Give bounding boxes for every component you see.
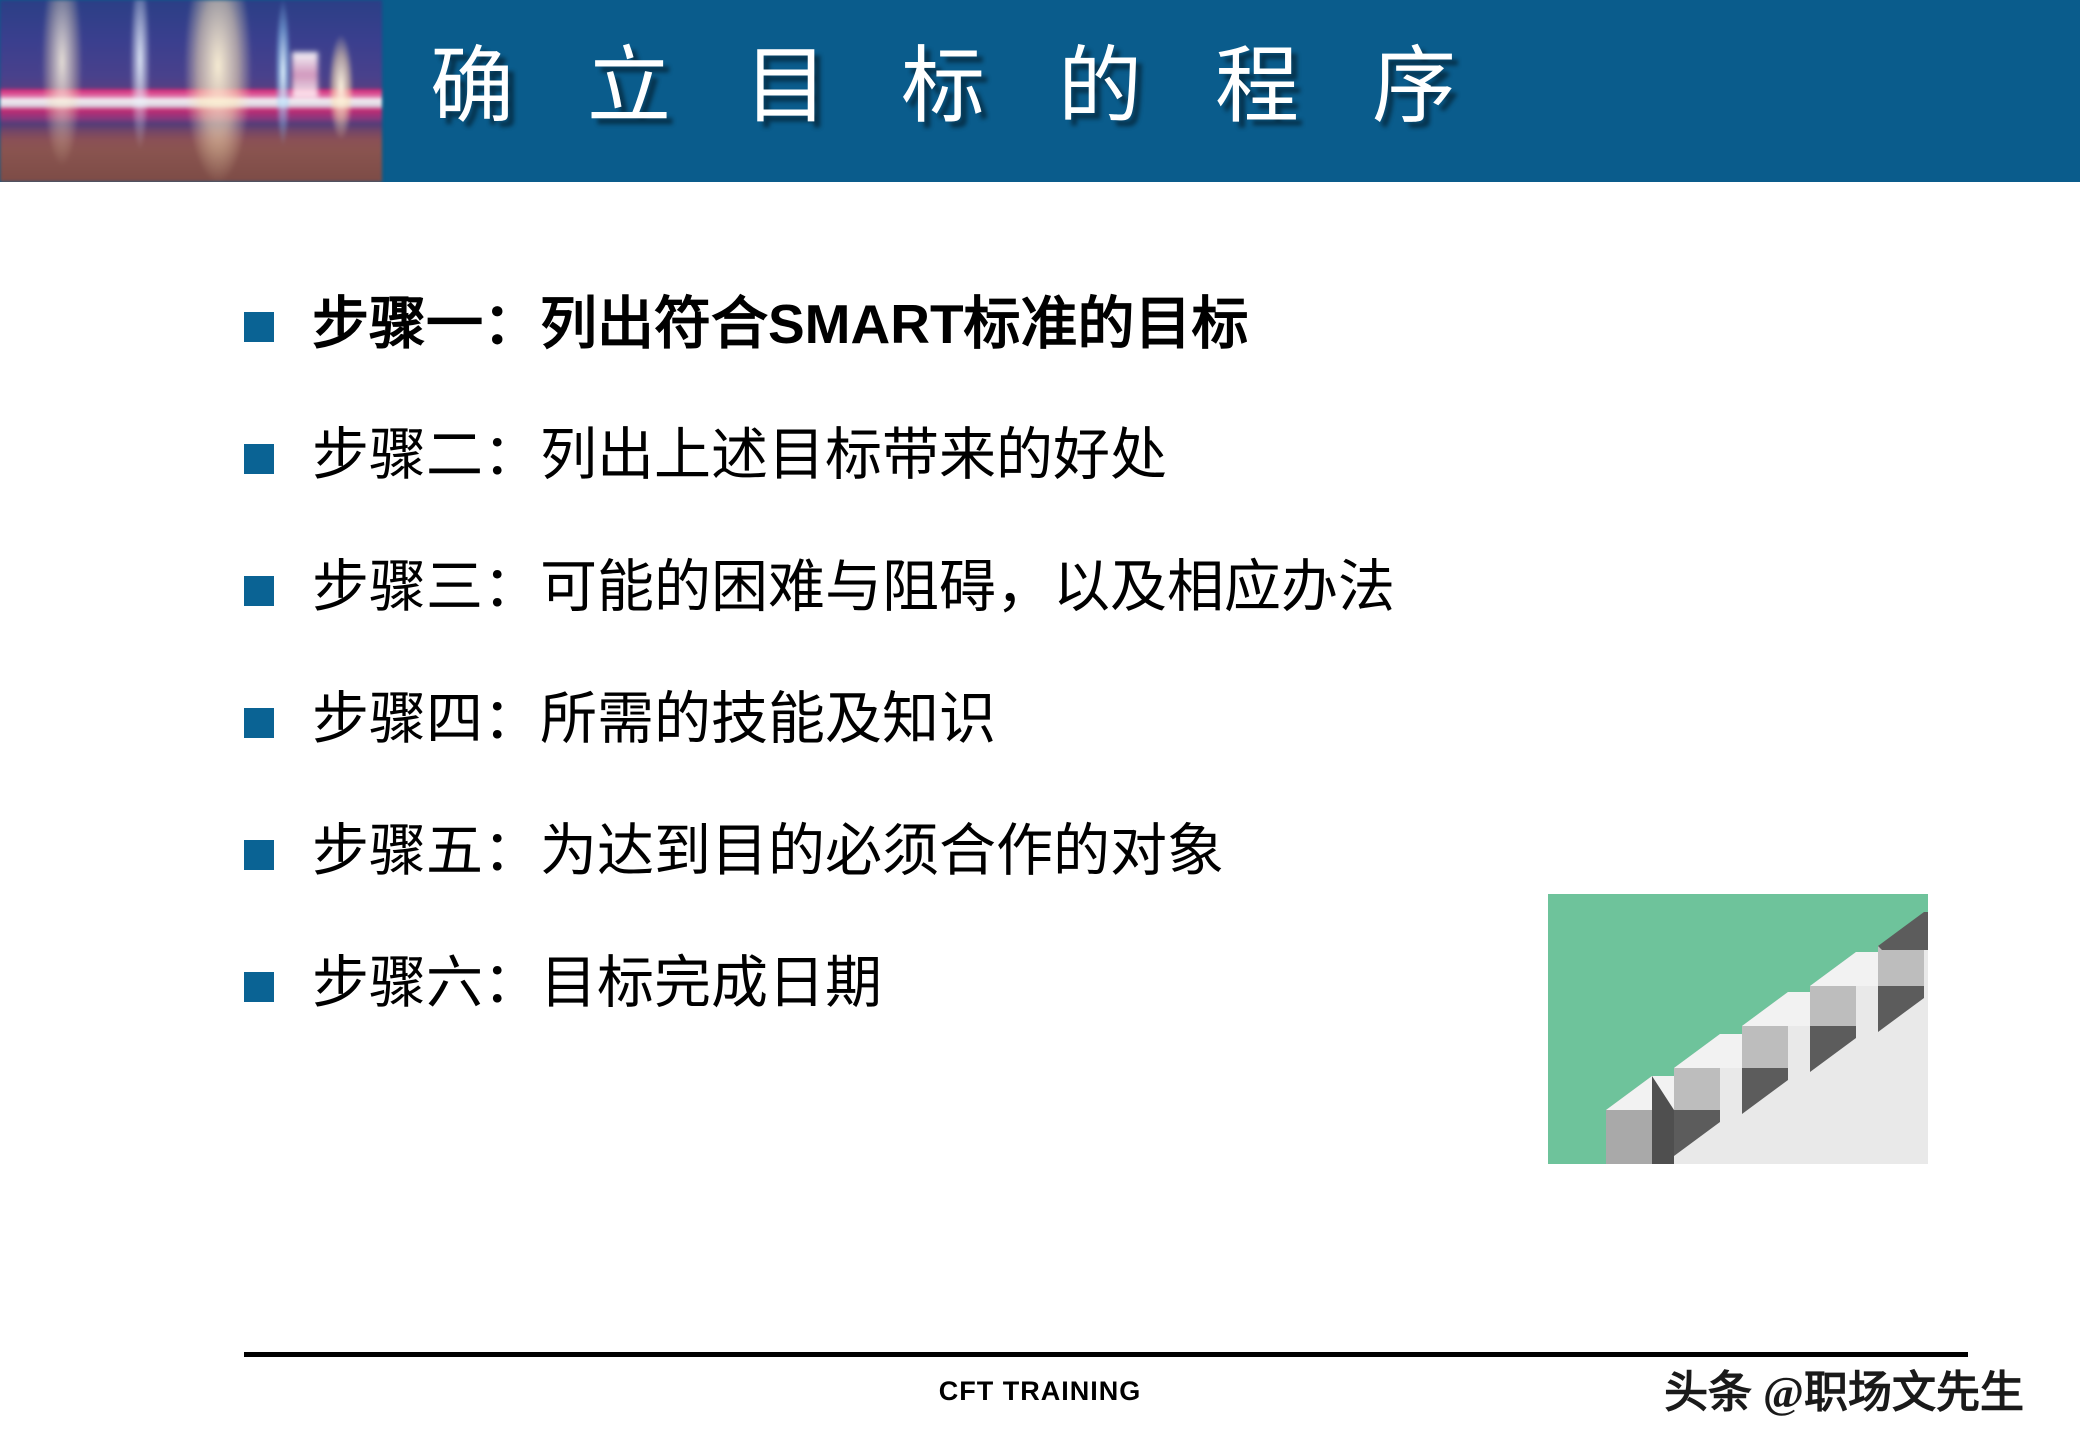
staircase-illustration [1548,894,1928,1164]
list-item: 步骤三：可能的困难与阻碍，以及相应办法 [244,556,1804,620]
list-item: 步骤五：为达到目的必须合作的对象 [244,820,1804,884]
list-item-label: 步骤六：目标完成日期 [312,952,882,1016]
list-item-label: 步骤一：列出符合SMART标准的目标 [312,292,1249,357]
square-bullet-icon [244,312,274,342]
light-flare-decoration [292,52,318,98]
list-item-label: 步骤三：可能的困难与阻碍，以及相应办法 [312,556,1395,620]
square-bullet-icon [244,708,274,738]
watermark-label: 头条 @职场文先生 [1664,1356,2024,1420]
square-bullet-icon [244,444,274,474]
motion-light-photo [0,0,382,182]
square-bullet-icon [244,972,274,1002]
list-item-label: 步骤二：列出上述目标带来的好处 [312,424,1167,488]
list-item: 步骤四：所需的技能及知识 [244,688,1804,752]
page-title: 确 立 目 标 的 程 序 [430,28,1482,148]
square-bullet-icon [244,576,274,606]
list-item: 步骤一：列出符合SMART标准的目标 [244,292,1804,356]
list-item-label: 步骤四：所需的技能及知识 [312,688,996,752]
slide-body: 步骤一：列出符合SMART标准的目标 步骤二：列出上述目标带来的好处 步骤三：可… [0,182,2080,1322]
staircase-icon [1548,894,1928,1164]
list-item-label: 步骤五：为达到目的必须合作的对象 [312,820,1224,884]
list-item: 步骤二：列出上述目标带来的好处 [244,424,1804,488]
slide-header-bar: 确 立 目 标 的 程 序 [0,0,2080,182]
square-bullet-icon [244,840,274,870]
